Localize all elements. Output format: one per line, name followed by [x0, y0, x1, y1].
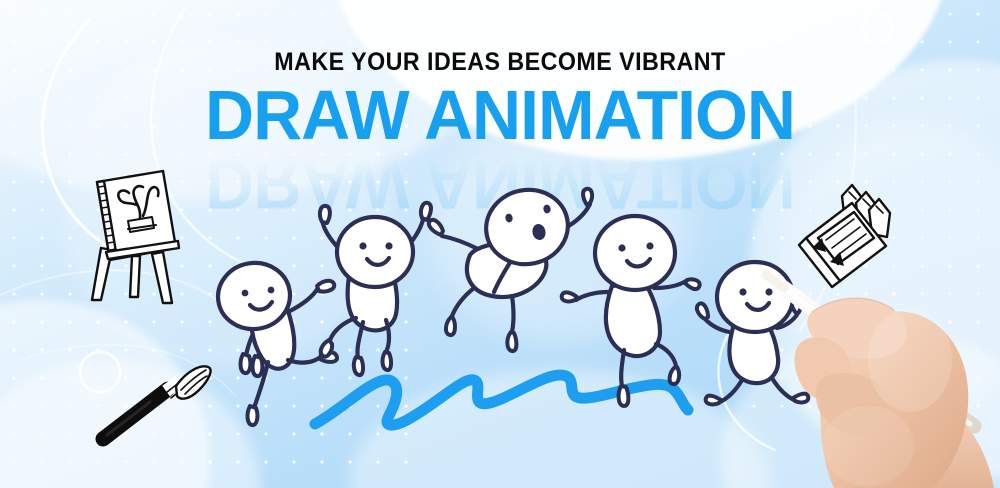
- stick-figure-1: [214, 258, 337, 425]
- draw-animation-banner: MAKE YOUR IDEAS BECOME VIBRANT DRAW ANIM…: [0, 0, 1000, 488]
- easel-icon: [92, 171, 179, 303]
- paintbrush-icon: [103, 366, 211, 439]
- hand-holding-stylus: [760, 250, 1000, 488]
- stick-figure-3: [429, 182, 592, 351]
- stick-figure-2: [320, 203, 431, 375]
- stick-figure-4: [562, 216, 700, 406]
